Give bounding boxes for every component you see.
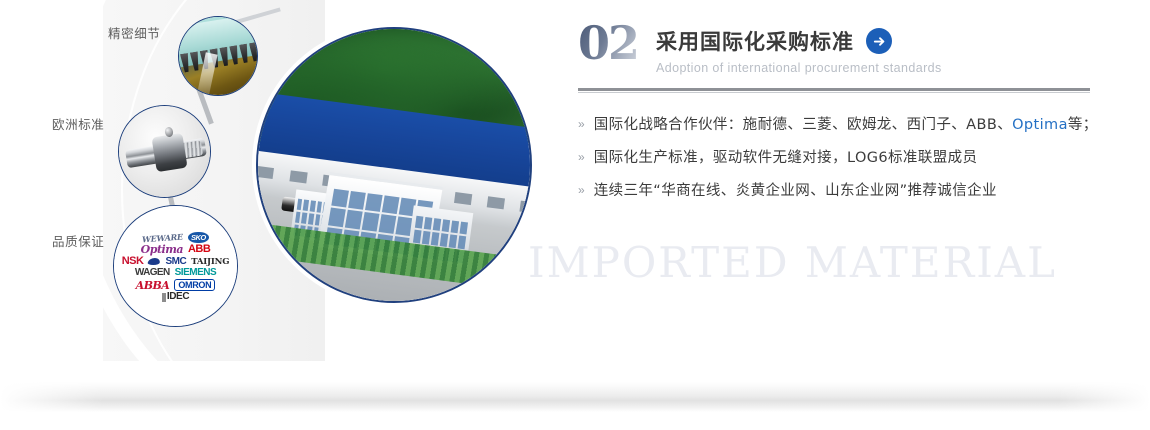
chevron-double-right-icon: » <box>578 118 585 130</box>
logo-taijing: TAIJING <box>191 258 229 267</box>
logo-optima: Optima <box>141 244 183 255</box>
smc-mark-icon <box>148 258 161 265</box>
list-item-highlight: Optima <box>1012 117 1068 133</box>
bullet-list: » 国际化战略合作伙伴：施耐德、三菱、欧姆龙、西门子、ABB、Optima等； … <box>578 113 1098 200</box>
arrow-right-circle-icon[interactable] <box>866 28 892 54</box>
list-item-lead: 国际化生产标准，驱动软件无缝对接，LOG6标准联盟成员 <box>594 150 978 166</box>
list-item-lead: 国际化战略合作伙伴：施耐德、三菱、欧姆龙、西门子、ABB、 <box>594 117 1012 133</box>
brand-row: WAGEN SIEMENS <box>135 268 216 278</box>
watermark-text: IMPORTED MATERIAL <box>528 238 1057 287</box>
brand-row: ABBA OMRON <box>136 279 216 291</box>
brand-row: IDEC <box>162 292 189 302</box>
bottom-gradient-fade <box>0 382 1150 412</box>
logo-smc: SMC <box>165 257 186 267</box>
feature-label-quality: 品质保证 <box>52 231 104 250</box>
logo-weware: WEWARE <box>142 232 183 243</box>
chevron-double-right-icon: » <box>578 184 585 196</box>
brand-row: Optima ABB <box>141 244 211 255</box>
factory-aerial-photo <box>256 27 532 303</box>
heading-text-group: 采用国际化采购标准 Adoption of international proc… <box>656 22 942 75</box>
brand-row: NSK SMC TAIJING <box>122 256 230 267</box>
list-item: » 连续三年“华商在线、炎黄企业网、山东企业网”推荐诚信企业 <box>578 179 1098 200</box>
logo-sko: SKO <box>188 232 209 244</box>
section-heading: 02 采用国际化采购标准 Adoption of international p… <box>578 22 1098 75</box>
chevron-double-right-icon: » <box>578 151 585 163</box>
promo-banner: 精密细节 欧洲标准 品质保证 WEWARE SKO Optima ABB <box>0 0 1150 430</box>
precision-detail-photo <box>178 16 258 96</box>
brand-row: WEWARE SKO <box>142 232 208 244</box>
list-item-text: 国际化生产标准，驱动软件无缝对接，LOG6标准联盟成员 <box>594 146 978 167</box>
list-item-tail: 等； <box>1068 117 1098 133</box>
logo-omron: OMRON <box>174 279 215 291</box>
page-title: 采用国际化采购标准 <box>656 26 854 56</box>
brand-logos-collage: WEWARE SKO Optima ABB NSK SMC TAIJING WA… <box>113 205 238 327</box>
title-line: 采用国际化采购标准 <box>656 26 942 56</box>
logo-abba: ABBA <box>136 280 170 291</box>
list-item-lead: 连续三年“华商在线、炎黄企业网、山东企业网”推荐诚信企业 <box>594 183 997 199</box>
section-content: 02 采用国际化采购标准 Adoption of international p… <box>578 22 1098 212</box>
logo-wagen: WAGEN <box>135 268 170 278</box>
section-number: 02 <box>578 22 642 66</box>
logo-nsk: NSK <box>122 256 144 267</box>
list-item-text: 国际化战略合作伙伴：施耐德、三菱、欧姆龙、西门子、ABB、Optima等； <box>594 113 1098 134</box>
feature-label-europe: 欧洲标准 <box>52 114 104 133</box>
logo-abb: ABB <box>188 244 210 255</box>
logo-idec-label: IDEC <box>167 292 189 302</box>
feature-label-precision: 精密细节 <box>108 23 160 42</box>
list-item: » 国际化生产标准，驱动软件无缝对接，LOG6标准联盟成员 <box>578 146 1098 167</box>
page-subtitle: Adoption of international procurement st… <box>656 61 942 75</box>
logo-idec: IDEC <box>162 292 189 302</box>
ball-screw-photo <box>118 105 211 198</box>
heading-divider <box>578 88 1090 91</box>
logo-siemens: SIEMENS <box>175 268 217 278</box>
screw-nut-shape <box>151 133 187 172</box>
list-item-text: 连续三年“华商在线、炎黄企业网、山东企业网”推荐诚信企业 <box>594 179 997 200</box>
list-item: » 国际化战略合作伙伴：施耐德、三菱、欧姆龙、西门子、ABB、Optima等； <box>578 113 1098 134</box>
